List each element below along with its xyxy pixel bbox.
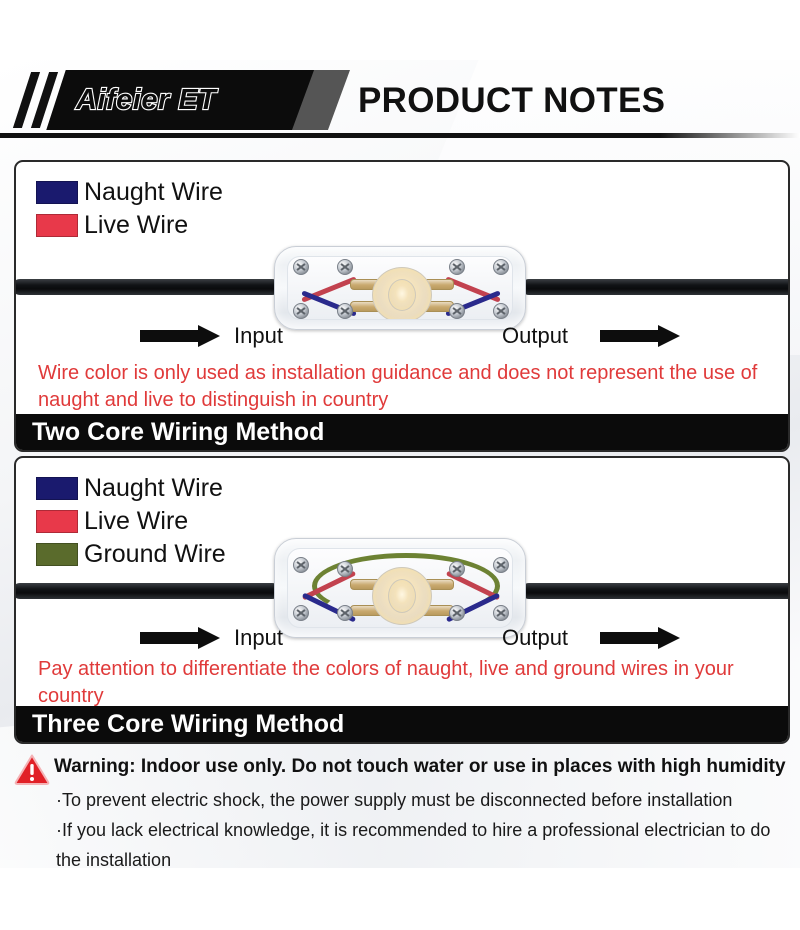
screw-icon [493, 605, 509, 621]
legend-item: Naught Wire [36, 176, 223, 209]
screw-icon [293, 557, 309, 573]
cable-left [14, 583, 280, 599]
output-arrow-icon [600, 325, 682, 347]
cable-right [521, 279, 790, 295]
brand-name: Aifeier ET [76, 79, 306, 121]
screw-icon [293, 605, 309, 621]
output-arrow-icon [600, 627, 682, 649]
legend-swatch-naught [36, 181, 78, 204]
legend-swatch-ground [36, 543, 78, 566]
screw-icon [337, 259, 353, 275]
product-notes-infographic: Aifeier ET PRODUCT NOTES Naught Wire Liv… [0, 0, 800, 930]
legend-three-core: Naught Wire Live Wire Ground Wire [36, 472, 226, 571]
note-text-three-core: Pay attention to differentiate the color… [38, 656, 778, 710]
input-arrow-icon [140, 627, 222, 649]
legend-label: Live Wire [84, 507, 188, 536]
caption-bar-two-core: Two Core Wiring Method [16, 414, 788, 450]
cable-right [521, 583, 790, 599]
screw-icon [293, 259, 309, 275]
screw-icon [337, 605, 353, 621]
screw-icon [449, 303, 465, 319]
panel-two-core: Naught Wire Live Wire [14, 160, 790, 452]
screw-icon [449, 605, 465, 621]
screw-icon [293, 303, 309, 319]
legend-item: Ground Wire [36, 538, 226, 571]
connector-two-core [274, 246, 526, 330]
legend-swatch-live [36, 510, 78, 533]
legend-item: Naught Wire [36, 472, 226, 505]
header-underline-fade [660, 133, 800, 138]
screw-icon [493, 557, 509, 573]
warning-heading-row: Warning: Indoor use only. Do not touch w… [14, 752, 794, 785]
legend-swatch-live [36, 214, 78, 237]
warning-bullet-2: ·If you lack electrical knowledge, it is… [56, 815, 776, 875]
legend-label: Live Wire [84, 211, 188, 240]
screw-icon [449, 561, 465, 577]
connector-window [287, 548, 513, 628]
caption-label: Two Core Wiring Method [32, 417, 324, 447]
cable-left [14, 279, 280, 295]
connector-core-cap [388, 279, 416, 311]
page-title: PRODUCT NOTES [358, 74, 778, 128]
input-label: Input [234, 625, 283, 651]
warning-bullet-1: ·To prevent electric shock, the power su… [56, 785, 794, 815]
output-label: Output [502, 625, 568, 651]
screw-icon [337, 303, 353, 319]
legend-label: Ground Wire [84, 540, 226, 569]
legend-two-core: Naught Wire Live Wire [36, 176, 223, 242]
warning-title: Warning: Indoor use only. Do not touch w… [54, 752, 786, 782]
legend-label: Naught Wire [84, 474, 223, 503]
screw-icon [337, 561, 353, 577]
connector-three-core [274, 538, 526, 638]
warning-block: Warning: Indoor use only. Do not touch w… [14, 752, 794, 875]
connector-core-cap [388, 579, 416, 613]
caption-bar-three-core: Three Core Wiring Method [16, 706, 788, 742]
legend-item: Live Wire [36, 209, 223, 242]
background-white-footer [0, 868, 800, 930]
panel-three-core: Naught Wire Live Wire Ground Wire [14, 456, 790, 744]
screw-icon [493, 259, 509, 275]
legend-swatch-naught [36, 477, 78, 500]
input-arrow-icon [140, 325, 222, 347]
warning-triangle-icon [14, 753, 50, 785]
screw-icon [493, 303, 509, 319]
input-label: Input [234, 323, 283, 349]
connector-window [287, 256, 513, 320]
legend-item: Live Wire [36, 505, 226, 538]
note-text-two-core: Wire color is only used as installation … [38, 360, 778, 414]
legend-label: Naught Wire [84, 178, 223, 207]
screw-icon [449, 259, 465, 275]
caption-label: Three Core Wiring Method [32, 709, 344, 739]
output-label: Output [502, 323, 568, 349]
header-banner: Aifeier ET PRODUCT NOTES [0, 62, 800, 140]
